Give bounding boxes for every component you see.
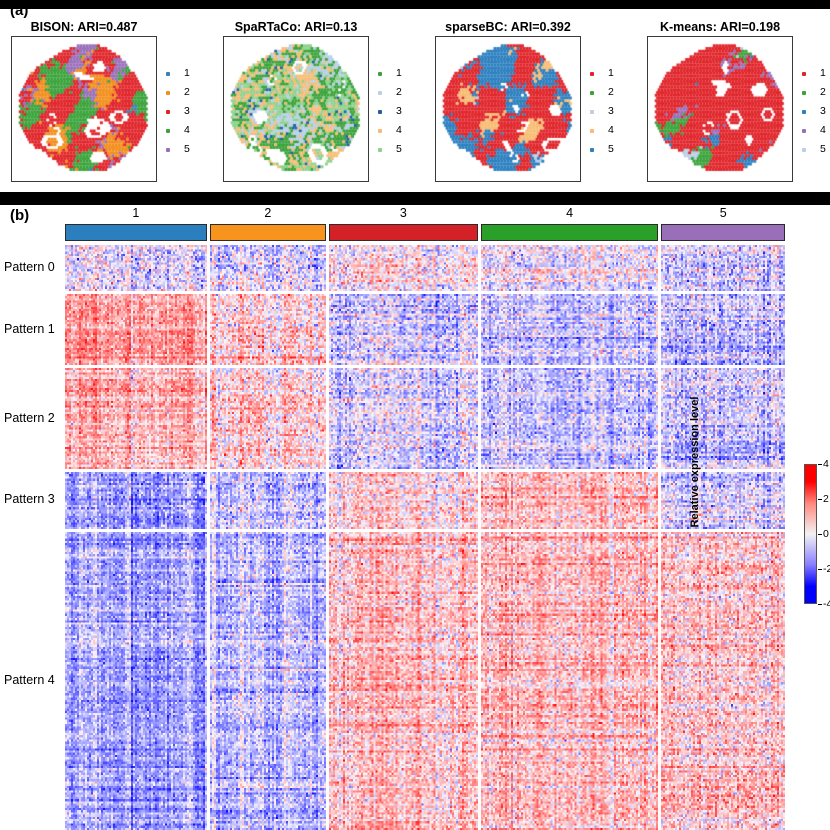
legend-dot-icon xyxy=(802,72,806,76)
legend-item-label: 2 xyxy=(608,87,614,98)
legend-dot-icon xyxy=(378,129,382,133)
legend-item: 4 xyxy=(802,121,830,140)
heatmap-block-r3-c2 xyxy=(329,472,478,529)
heatmap-block-canvas xyxy=(65,472,207,529)
heatmap-block-canvas xyxy=(481,245,658,291)
heatmap-block-canvas xyxy=(329,368,478,468)
spatial-map-box-kmeans xyxy=(647,36,793,182)
legend-dot-icon xyxy=(590,148,594,152)
heatmap-block-r4-c2 xyxy=(329,532,478,830)
spatial-map-sparsebc: sparseBC: ARI=0.39212345 xyxy=(424,20,636,192)
heatmap-column-annotation-block-3 xyxy=(329,224,478,241)
legend-item: 1 xyxy=(590,64,634,83)
heatmap-block-r3-c0 xyxy=(65,472,207,529)
heatmap-block-canvas xyxy=(481,532,658,830)
legend-item-label: 4 xyxy=(396,125,402,136)
legend-item: 2 xyxy=(590,83,634,102)
spatial-map-title-spartaco: SpaRTaCo: ARI=0.13 xyxy=(212,20,380,34)
colorbar-tick-label: 2 xyxy=(823,493,829,505)
legend-dot-icon xyxy=(166,129,170,133)
legend-item-label: 5 xyxy=(184,144,190,155)
heatmap-block-r0-c4 xyxy=(661,245,785,291)
heatmap-block-r2-c0 xyxy=(65,368,207,468)
spatial-map-box-bison xyxy=(11,36,157,182)
heatmap-block-r1-c4 xyxy=(661,294,785,366)
legend-item-label: 1 xyxy=(184,68,190,79)
legend-item-label: 3 xyxy=(184,106,190,117)
heatmap-block-r2-c2 xyxy=(329,368,478,468)
legend-item: 5 xyxy=(802,140,830,159)
legend-dot-icon xyxy=(378,91,382,95)
heatmap-column-label-1: 1 xyxy=(65,206,207,222)
spatial-map-canvas-bison xyxy=(12,37,156,181)
legend-dot-icon xyxy=(590,91,594,95)
heatmap-block-canvas xyxy=(481,368,658,468)
heatmap-block-canvas xyxy=(65,245,207,291)
legend-dot-icon xyxy=(590,72,594,76)
heatmap-block-r3-c1 xyxy=(210,472,327,529)
legend-item: 3 xyxy=(802,102,830,121)
heatmap-block-canvas xyxy=(65,294,207,366)
legend-item-label: 4 xyxy=(184,125,190,136)
top-divider-band xyxy=(0,0,830,9)
spatial-map-title-bison: BISON: ARI=0.487 xyxy=(0,20,168,34)
panel-a-label: (a) xyxy=(10,2,28,19)
legend-dot-icon xyxy=(802,110,806,114)
heatmap-block-canvas xyxy=(65,368,207,468)
heatmap-block-canvas xyxy=(661,532,785,830)
heatmap-column-label-3: 3 xyxy=(329,206,478,222)
heatmap-block-canvas xyxy=(329,532,478,830)
heatmap-block-canvas xyxy=(661,368,785,468)
legend-item-label: 3 xyxy=(608,106,614,117)
legend-item: 4 xyxy=(166,121,210,140)
legend-dot-icon xyxy=(166,148,170,152)
colorbar-title: Relative expression level xyxy=(689,377,703,547)
colorbar-gradient xyxy=(804,464,817,604)
spatial-map-title-kmeans: K-means: ARI=0.198 xyxy=(636,20,804,34)
heatmap-row-1 xyxy=(65,294,785,366)
spatial-map-legend-sparsebc: 12345 xyxy=(590,64,634,159)
heatmap-row-4 xyxy=(65,532,785,830)
legend-dot-icon xyxy=(166,72,170,76)
heatmap-row-label-3: Pattern 3 xyxy=(4,492,64,506)
heatmap-block-r0-c1 xyxy=(210,245,327,291)
legend-item: 3 xyxy=(166,102,210,121)
legend-item: 1 xyxy=(802,64,830,83)
colorbar-tick-label: 0 xyxy=(823,528,829,540)
spatial-map-box-spartaco xyxy=(223,36,369,182)
legend-dot-icon xyxy=(802,91,806,95)
spatial-map-canvas-sparsebc xyxy=(436,37,580,181)
spatial-map-legend-bison: 12345 xyxy=(166,64,210,159)
legend-item: 3 xyxy=(590,102,634,121)
spatial-map-box-sparsebc xyxy=(435,36,581,182)
legend-item: 2 xyxy=(378,83,422,102)
legend-item-label: 2 xyxy=(396,87,402,98)
colorbar-tick-mark xyxy=(818,569,822,570)
heatmap-block-canvas xyxy=(481,472,658,529)
heatmap-block-r1-c1 xyxy=(210,294,327,366)
panel-b-label: (b) xyxy=(10,207,29,224)
spatial-map-kmeans: K-means: ARI=0.19812345 xyxy=(636,20,830,192)
legend-item-label: 3 xyxy=(820,106,826,117)
legend-item-label: 5 xyxy=(396,144,402,155)
colorbar-tick-mark xyxy=(818,534,822,535)
legend-item-label: 5 xyxy=(608,144,614,155)
heatmap-block-r0-c2 xyxy=(329,245,478,291)
heatmap-block-r1-c3 xyxy=(481,294,658,366)
heatmap-row-0 xyxy=(65,245,785,291)
legend-item: 3 xyxy=(378,102,422,121)
legend-item: 5 xyxy=(590,140,634,159)
heatmap-block-r4-c3 xyxy=(481,532,658,830)
legend-item: 1 xyxy=(378,64,422,83)
heatmap-block-canvas xyxy=(329,245,478,291)
legend-dot-icon xyxy=(378,72,382,76)
heatmap-block-canvas xyxy=(210,294,327,366)
spatial-map-title-sparsebc: sparseBC: ARI=0.392 xyxy=(424,20,592,34)
legend-item: 4 xyxy=(590,121,634,140)
heatmap-block-r2-c3 xyxy=(481,368,658,468)
spatial-map-canvas-kmeans xyxy=(648,37,792,181)
legend-dot-icon xyxy=(590,129,594,133)
heatmap-column-labels: 12345 xyxy=(65,206,785,222)
heatmap-column-annotation-block-2 xyxy=(210,224,326,241)
legend-item-label: 4 xyxy=(608,125,614,136)
heatmap-column-annotation-block-5 xyxy=(661,224,785,241)
heatmap-block-r4-c1 xyxy=(210,532,327,830)
legend-dot-icon xyxy=(802,129,806,133)
heatmap-block-canvas xyxy=(210,472,327,529)
heatmap-column-label-4: 4 xyxy=(481,206,659,222)
legend-item-label: 3 xyxy=(396,106,402,117)
heatmap-block-r4-c0 xyxy=(65,532,207,830)
legend-item: 2 xyxy=(802,83,830,102)
legend-dot-icon xyxy=(802,148,806,152)
heatmap-column-annotation-block-1 xyxy=(65,224,207,241)
heatmap-column-label-2: 2 xyxy=(210,206,326,222)
heatmap-column-annotation-bar xyxy=(65,224,785,241)
legend-item-label: 2 xyxy=(820,87,826,98)
heatmap-block-canvas xyxy=(661,294,785,366)
colorbar-tick-label: -2 xyxy=(823,563,830,575)
legend-item-label: 4 xyxy=(820,125,826,136)
legend-item-label: 1 xyxy=(396,68,402,79)
colorbar-tick-mark xyxy=(818,499,822,500)
heatmap-column-label-5: 5 xyxy=(661,206,785,222)
heatmap-block-canvas xyxy=(481,294,658,366)
heatmap-block-canvas xyxy=(210,245,327,291)
heatmap-block-r0-c0 xyxy=(65,245,207,291)
heatmap-block-r3-c4 xyxy=(661,472,785,529)
colorbar-tick-label: 4 xyxy=(823,458,829,470)
legend-dot-icon xyxy=(166,110,170,114)
heatmap-block-canvas xyxy=(210,532,327,830)
colorbar: Relative expression level 420-2-4 xyxy=(786,440,830,625)
legend-dot-icon xyxy=(378,110,382,114)
heatmap-block-canvas xyxy=(65,532,207,830)
legend-item: 2 xyxy=(166,83,210,102)
heatmap-block-canvas xyxy=(661,245,785,291)
heatmap-column-annotation-block-4 xyxy=(481,224,659,241)
colorbar-tick-mark xyxy=(818,604,822,605)
panel-divider-band xyxy=(0,192,830,205)
heatmap-block-r2-c4 xyxy=(661,368,785,468)
spatial-map-spartaco: SpaRTaCo: ARI=0.1312345 xyxy=(212,20,424,192)
heatmap-block-r3-c3 xyxy=(481,472,658,529)
legend-item-label: 1 xyxy=(820,68,826,79)
heatmap-block-canvas xyxy=(329,472,478,529)
heatmap-block-canvas xyxy=(661,472,785,529)
legend-item-label: 2 xyxy=(184,87,190,98)
legend-dot-icon xyxy=(378,148,382,152)
heatmap-block-r2-c1 xyxy=(210,368,327,468)
legend-item: 1 xyxy=(166,64,210,83)
spatial-map-legend-spartaco: 12345 xyxy=(378,64,422,159)
heatmap-row-label-2: Pattern 2 xyxy=(4,411,64,425)
legend-dot-icon xyxy=(590,110,594,114)
colorbar-tick-mark xyxy=(818,464,822,465)
spatial-map-bison: BISON: ARI=0.48712345 xyxy=(0,20,212,192)
legend-item-label: 5 xyxy=(820,144,826,155)
legend-item: 5 xyxy=(378,140,422,159)
heatmap-row-label-4: Pattern 4 xyxy=(4,673,64,687)
legend-item-label: 1 xyxy=(608,68,614,79)
colorbar-tick-label: -4 xyxy=(823,598,830,610)
legend-dot-icon xyxy=(166,91,170,95)
legend-item: 5 xyxy=(166,140,210,159)
heatmap-block-r4-c4 xyxy=(661,532,785,830)
heatmap-row-label-0: Pattern 0 xyxy=(4,260,64,274)
heatmap-block-canvas xyxy=(210,368,327,468)
legend-item: 4 xyxy=(378,121,422,140)
heatmap-block-canvas xyxy=(329,294,478,366)
spatial-map-legend-kmeans: 12345 xyxy=(802,64,830,159)
spatial-map-canvas-spartaco xyxy=(224,37,368,181)
heatmap-row-3 xyxy=(65,472,785,529)
heatmap-block-r1-c2 xyxy=(329,294,478,366)
heatmap-grid xyxy=(65,245,785,830)
heatmap-block-r1-c0 xyxy=(65,294,207,366)
heatmap-row-label-1: Pattern 1 xyxy=(4,322,64,336)
heatmap-row-2 xyxy=(65,368,785,468)
heatmap-block-r0-c3 xyxy=(481,245,658,291)
